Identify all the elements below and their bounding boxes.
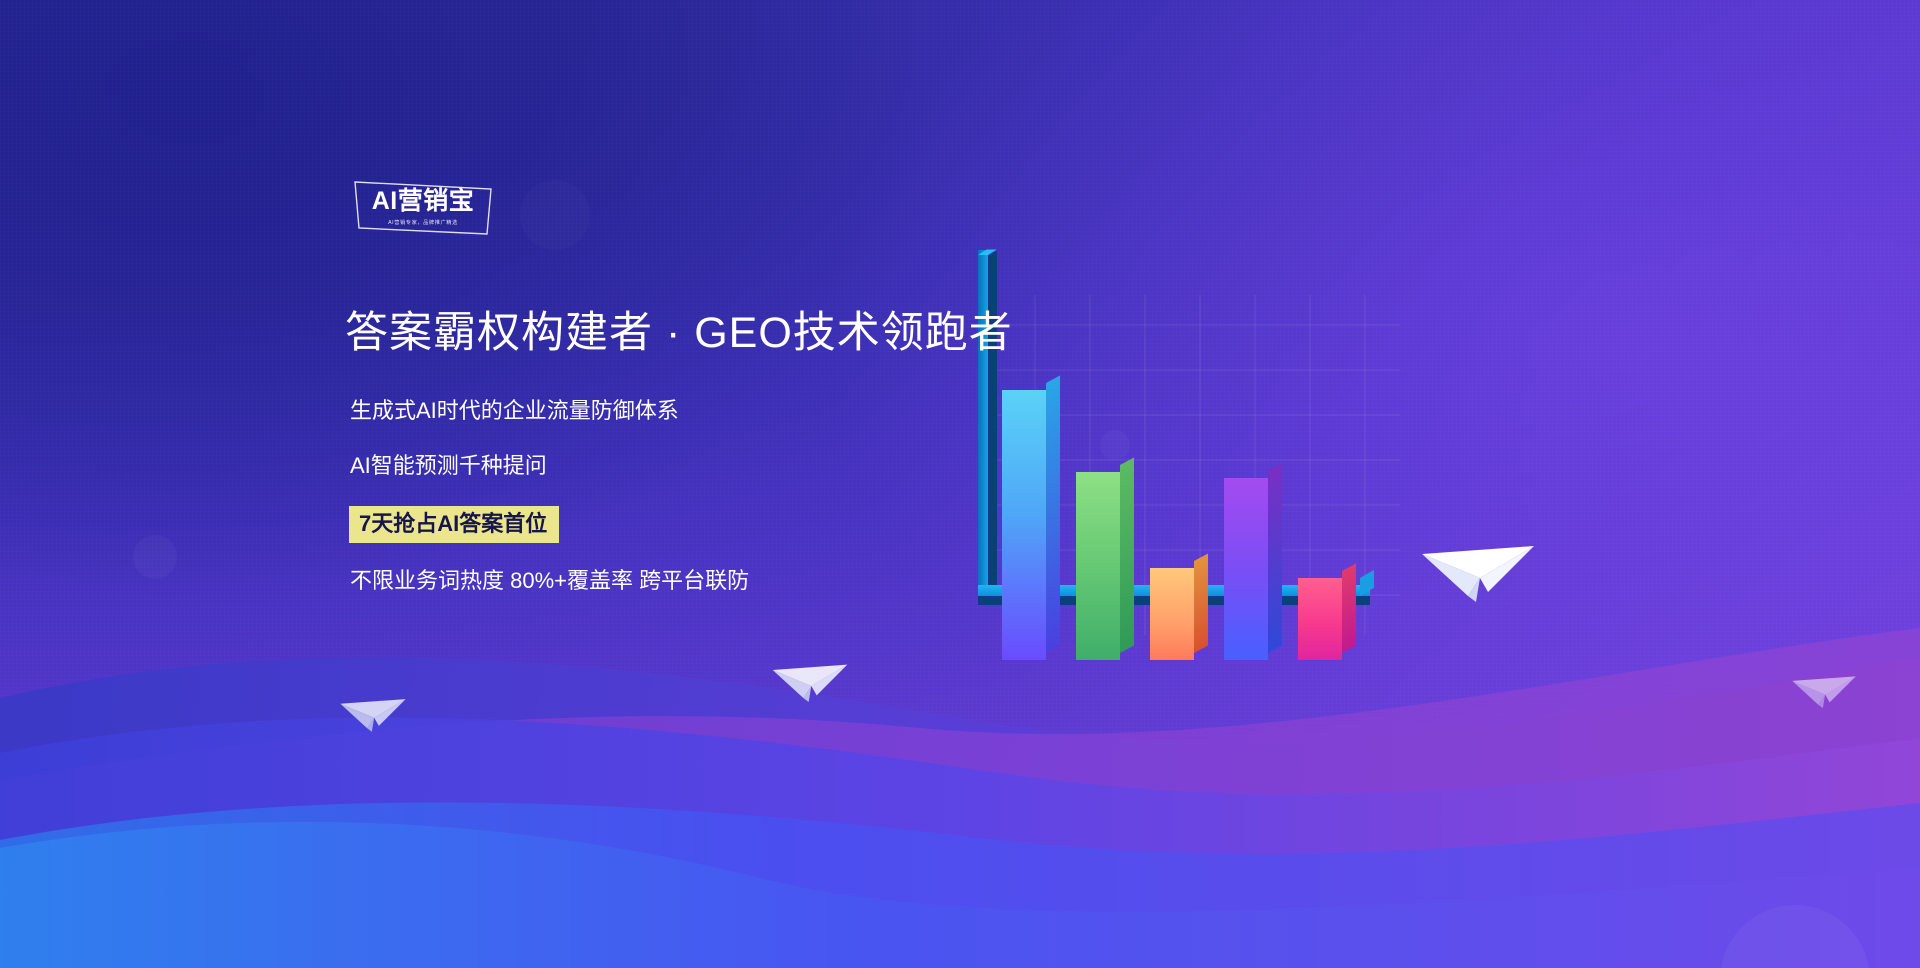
wave-layer-group bbox=[0, 548, 1920, 968]
hero-subline-1: 生成式AI时代的企业流量防御体系 bbox=[350, 400, 679, 422]
logo-tagline: AI营销专家，品牌推广精选 bbox=[360, 219, 486, 226]
hero-highlight-badge: 7天抢占AI答案首位 bbox=[349, 506, 559, 543]
hero-highlight-text: 7天抢占AI答案首位 bbox=[359, 513, 547, 535]
hero-banner: AI营销宝 AI营销专家，品牌推广精选 答案霸权构建者 · GEO技术领跑者 生… bbox=[0, 0, 1920, 968]
paper-plane-icon bbox=[338, 682, 408, 736]
hero-subline-2: AI智能预测千种提问 bbox=[350, 455, 547, 477]
page-title: 答案霸权构建者 · GEO技术领跑者 bbox=[345, 312, 1013, 355]
paper-plane-icon bbox=[1418, 518, 1538, 608]
decor-circle bbox=[520, 180, 590, 250]
logo-wordmark: AI营销宝 bbox=[363, 189, 483, 214]
chart-y-axis bbox=[978, 250, 988, 595]
paper-plane-icon bbox=[770, 645, 850, 707]
brand-logo[interactable]: AI营销宝 AI营销专家，品牌推广精选 bbox=[352, 178, 494, 238]
hero-subline-4: 不限业务词热度 80%+覆盖率 跨平台联防 bbox=[350, 570, 749, 592]
paper-plane-icon bbox=[1790, 660, 1858, 712]
